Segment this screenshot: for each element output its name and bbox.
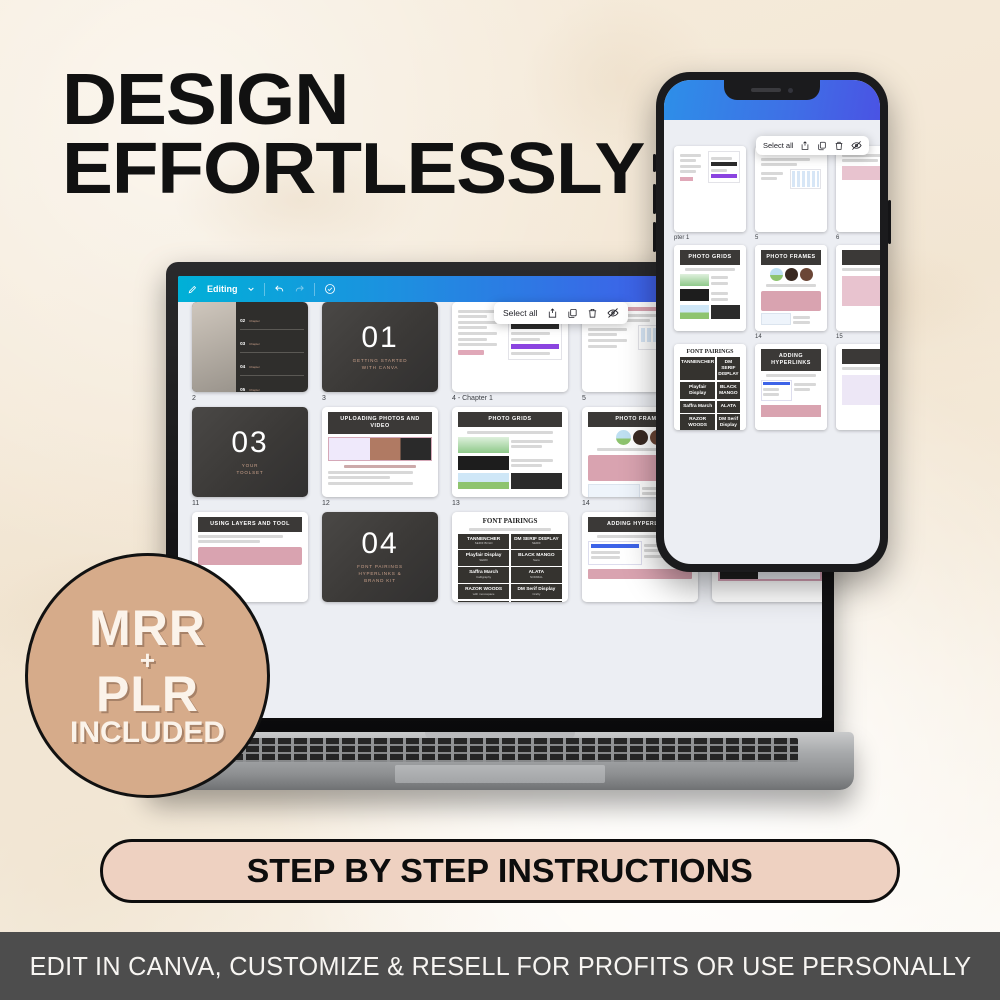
doc-title: [842, 250, 880, 265]
badge-line-2: PLR: [96, 671, 199, 717]
badge-line-3: INCLUDED: [70, 719, 225, 747]
toc-thumbnail: 02Chapter 03Chapter 04Chapter 05Chapter …: [192, 302, 308, 392]
phone-volume-down: [653, 222, 656, 252]
toolbar-divider-2: [314, 283, 315, 296]
doc-title: FONT PAIRINGS: [680, 349, 740, 355]
font-name: DM SERIF DISPLAY: [718, 360, 739, 377]
font-style: Sans: [512, 559, 561, 563]
chapter-divider-thumbnail: 04 FONT PAIRINGS HYPERLINKS & BRAND KIT: [322, 512, 438, 602]
headline-line-2: EFFORTLESSLY: [62, 135, 644, 204]
select-all-toolbar: Select all: [494, 302, 628, 324]
document-thumbnail: [836, 344, 880, 430]
select-all-label[interactable]: Select all: [503, 308, 538, 318]
toc-list: 02Chapter 03Chapter 04Chapter 05Chapter …: [236, 302, 308, 392]
font-style: SERIF: [459, 559, 508, 563]
page-cell[interactable]: pter 1: [674, 146, 746, 241]
page-thumbnail[interactable]: 01 GETTING STARTED WITH CANVA: [322, 302, 438, 392]
chevron-down-icon[interactable]: [247, 285, 255, 293]
font-name: Playfair Display: [681, 385, 714, 397]
page-cell[interactable]: FONT PAIRINGS TANNENCHER DM SERIF DISPLA…: [674, 344, 746, 433]
page-label: 13: [452, 500, 568, 507]
delete-page-icon[interactable]: [587, 308, 598, 319]
laptop-base: [146, 732, 854, 790]
font-name: DM Serif Display: [718, 417, 739, 429]
document-thumbnail: UPLOADING PHOTOS AND VIDEO: [322, 407, 438, 497]
chapter-number: 03: [231, 428, 268, 458]
page-thumbnail[interactable]: PHOTO GRIDS: [674, 245, 746, 331]
phone-camera: [788, 88, 793, 93]
page-cell[interactable]: 04 FONT PAIRINGS HYPERLINKS & BRAND KIT: [322, 512, 438, 605]
page-thumbnail[interactable]: 03 YOUR TOOLSET: [192, 407, 308, 497]
font-style: Crafty: [512, 593, 561, 597]
footer-text: EDIT IN CANVA, CUSTOMIZE & RESELL FOR PR…: [29, 951, 971, 982]
page-label: 6: [836, 235, 880, 241]
phone-silent-switch: [653, 154, 656, 172]
page-cell[interactable]: PHOTO FRAMES 14: [755, 245, 827, 340]
font-pairings-thumbnail: FONT PAIRINGS TANNENCHERSERIF BOLD DM SE…: [452, 512, 568, 602]
page-cell[interactable]: UPLOADING PHOTOS AND VIDEO 12: [322, 407, 438, 507]
chapter-subtitle: YOUR TOOLSET: [237, 463, 264, 477]
page-cell[interactable]: 5: [755, 146, 827, 241]
document-thumbnail: PHOTO GRIDS: [674, 245, 746, 331]
phone-screen: Select all: [664, 80, 880, 564]
page-cell[interactable]: ADDING HYPERLINKS: [755, 344, 827, 433]
page-cell[interactable]: 02Chapter 03Chapter 04Chapter 05Chapter …: [192, 302, 308, 402]
badge-line-1: MRR: [89, 605, 206, 651]
page-thumbnail[interactable]: [836, 245, 880, 331]
document-thumbnail: ADDING HYPERLINKS: [755, 344, 827, 430]
page-cell[interactable]: 15: [836, 245, 880, 340]
phone-notch: [724, 80, 820, 100]
page-thumbnail[interactable]: 02Chapter 03Chapter 04Chapter 05Chapter …: [192, 302, 308, 392]
page-thumbnail[interactable]: FONT PAIRINGS TANNENCHER DM SERIF DISPLA…: [674, 344, 746, 430]
editing-mode-label[interactable]: Editing: [207, 284, 238, 294]
doc-title: PHOTO GRIDS: [680, 250, 740, 265]
doc-title: PHOTO GRIDS: [458, 412, 562, 427]
add-page-icon[interactable]: [547, 308, 558, 319]
document-thumbnail: PHOTO FRAMES: [755, 245, 827, 331]
font-pair-grid: TANNENCHERSERIF BOLD DM SERIF DISPLAYSER…: [458, 534, 562, 602]
step-by-step-pill: STEP BY STEP INSTRUCTIONS: [100, 839, 900, 903]
page-label: 5: [755, 235, 827, 241]
mrr-plr-badge: MRR + PLR INCLUDED: [25, 553, 270, 798]
page-label: 11: [192, 500, 308, 507]
page-thumbnail[interactable]: [755, 146, 827, 232]
font-name: TANNENCHER: [681, 360, 714, 366]
page-label: 2: [192, 395, 308, 402]
page-thumbnail[interactable]: FONT PAIRINGS TANNENCHERSERIF BOLD DM SE…: [452, 512, 568, 602]
doc-title: UPLOADING PHOTOS AND VIDEO: [328, 412, 432, 434]
page-label: pter 1: [674, 235, 746, 241]
document-thumbnail: [836, 245, 880, 331]
phone-page-row-1: pter 1 5: [664, 146, 880, 241]
footer-bar: EDIT IN CANVA, CUSTOMIZE & RESELL FOR PR…: [0, 932, 1000, 1000]
phone-page-grid[interactable]: pter 1 5: [664, 110, 880, 564]
duplicate-page-icon[interactable]: [567, 308, 578, 319]
page-thumbnail[interactable]: [836, 344, 880, 430]
select-all-toolbar: Select all: [756, 136, 869, 155]
chapter-number: 04: [361, 529, 398, 559]
chapter-divider-thumbnail: 03 YOUR TOOLSET: [192, 407, 308, 497]
chapter-subtitle: GETTING STARTED WITH CANVA: [353, 358, 408, 372]
doc-title: PHOTO FRAMES: [761, 250, 821, 265]
font-style: SERIF: [512, 542, 561, 546]
chapter-divider-thumbnail: 01 GETTING STARTED WITH CANVA: [322, 302, 438, 392]
page-title: DESIGN EFFORTLESSLY: [62, 66, 644, 204]
pen-icon[interactable]: [188, 284, 198, 294]
document-thumbnail: [755, 146, 827, 232]
page-cell[interactable]: 6: [836, 146, 880, 241]
duplicate-page-icon[interactable]: [817, 141, 827, 151]
add-page-icon[interactable]: [800, 141, 810, 151]
toolbar-divider: [264, 283, 265, 296]
page-thumbnail[interactable]: 04 FONT PAIRINGS HYPERLINKS & BRAND KIT: [322, 512, 438, 602]
cloud-saved-icon[interactable]: [324, 283, 336, 295]
phone-speaker: [751, 88, 781, 92]
page-cell[interactable]: FONT PAIRINGS TANNENCHERSERIF BOLD DM SE…: [452, 512, 568, 605]
select-all-label[interactable]: Select all: [763, 141, 793, 150]
page-label: 3: [322, 395, 438, 402]
pill-label: STEP BY STEP INSTRUCTIONS: [247, 852, 753, 890]
laptop-trackpad: [395, 765, 605, 783]
document-thumbnail: PHOTO GRIDS: [452, 407, 568, 497]
phone-page-row-2: PHOTO GRIDS PHOTO FRAMES: [664, 245, 880, 340]
page-cell[interactable]: PHOTO GRIDS: [674, 245, 746, 340]
hide-page-icon[interactable]: [607, 307, 619, 319]
page-cell[interactable]: 03 YOUR TOOLSET 11: [192, 407, 308, 507]
page-label: 4 - Chapter 1: [452, 395, 568, 402]
phone-volume-up: [653, 184, 656, 214]
redo-icon[interactable]: [294, 284, 305, 295]
font-name: ALATA: [718, 404, 739, 410]
chapter-number: 01: [361, 323, 398, 353]
undo-icon[interactable]: [274, 284, 285, 295]
phone-page-row-3: FONT PAIRINGS TANNENCHER DM SERIF DISPLA…: [664, 344, 880, 433]
doc-title: ADDING HYPERLINKS: [761, 349, 821, 371]
font-pairings-thumbnail: FONT PAIRINGS TANNENCHER DM SERIF DISPLA…: [674, 344, 746, 430]
page-thumbnail[interactable]: PHOTO GRIDS: [452, 407, 568, 497]
doc-title: USING LAYERS AND TOOL: [198, 517, 302, 532]
font-style: NORMAL: [512, 576, 561, 580]
page-thumbnail[interactable]: [836, 146, 880, 232]
page-thumbnail[interactable]: [674, 146, 746, 232]
doc-title: [842, 349, 880, 364]
hide-page-icon[interactable]: [851, 140, 862, 151]
page-thumbnail[interactable]: UPLOADING PHOTOS AND VIDEO: [322, 407, 438, 497]
page-cell[interactable]: PHOTO GRIDS: [452, 407, 568, 507]
page-cell[interactable]: 01 GETTING STARTED WITH CANVA 3: [322, 302, 438, 402]
document-thumbnail: [674, 146, 746, 232]
headline-line-1: DESIGN: [62, 60, 348, 140]
font-style: Calligraphy: [459, 576, 508, 580]
font-name: RAZOR WOODS: [681, 417, 714, 429]
delete-page-icon[interactable]: [834, 141, 844, 151]
laptop-keyboard: [198, 738, 798, 762]
page-thumbnail[interactable]: PHOTO FRAMES: [755, 245, 827, 331]
font-name: BLACK MANGO: [718, 385, 739, 397]
font-style: SERIF BOLD: [459, 542, 508, 546]
page-label: 12: [322, 500, 438, 507]
phone-power-button: [888, 200, 891, 244]
page-label: 14: [755, 334, 827, 340]
page-cell[interactable]: [836, 344, 880, 433]
toc-photo: [192, 302, 236, 392]
font-style: with monospace: [459, 593, 508, 597]
font-name: Saffra March: [681, 404, 714, 410]
chapter-subtitle: FONT PAIRINGS HYPERLINKS & BRAND KIT: [357, 564, 403, 585]
page-thumbnail[interactable]: ADDING HYPERLINKS: [755, 344, 827, 430]
phone-mockup: Select all: [656, 72, 888, 572]
document-thumbnail: [836, 146, 880, 232]
page-label: 15: [836, 334, 880, 340]
doc-title: FONT PAIRINGS: [458, 517, 562, 525]
